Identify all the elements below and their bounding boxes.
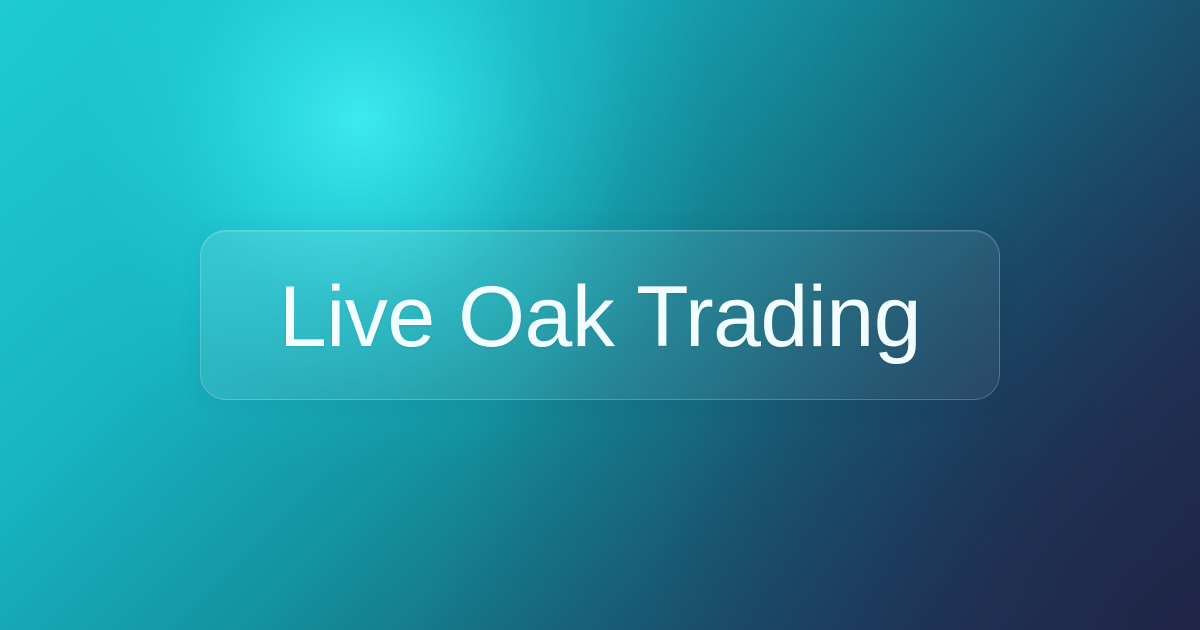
page-title: Live Oak Trading	[279, 274, 921, 360]
title-panel: Live Oak Trading	[200, 230, 1000, 400]
card-center-wrapper: Live Oak Trading	[0, 0, 1200, 630]
og-card-canvas: Live Oak Trading	[0, 0, 1200, 630]
